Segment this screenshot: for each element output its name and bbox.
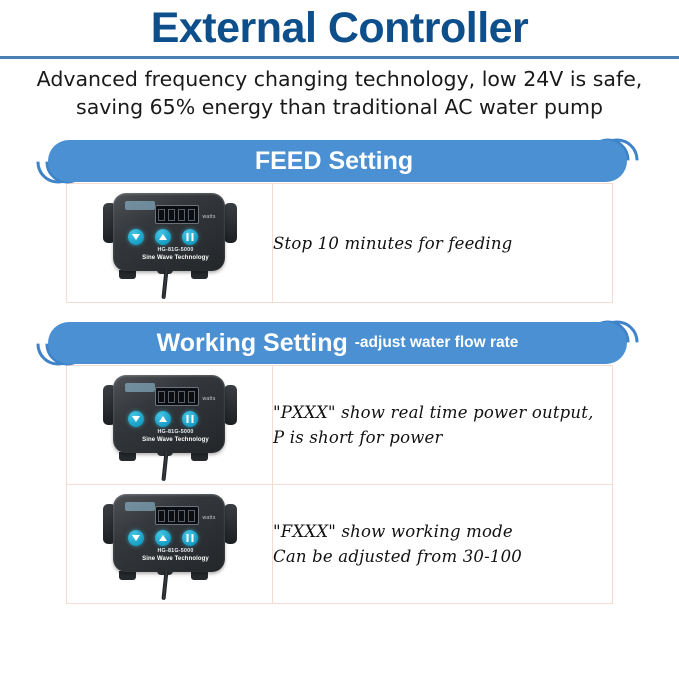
- digit-segment: [168, 391, 175, 403]
- digit-segment: [158, 209, 165, 221]
- digit-segment: [188, 510, 195, 522]
- device-button-row: [128, 530, 198, 546]
- device-model-label: HG-81G-5000: [141, 548, 211, 554]
- device-foot-left: [119, 571, 136, 580]
- device-mount-bracket-right: [224, 504, 237, 544]
- digit-segment: [178, 391, 185, 403]
- working-device-cell-2: watts HG-81G-5000 Sine Wave Technology: [67, 485, 273, 604]
- working-description-cell-2: "FXXX" show working mode Can be adjusted…: [273, 485, 613, 604]
- digit-segment: [158, 391, 165, 403]
- down-button[interactable]: [128, 411, 144, 427]
- triangle-up-icon: [159, 234, 167, 240]
- pause-icon: [186, 415, 193, 423]
- controller-device-image: watts HG-81G-5000 Sine Wave Technology: [95, 187, 245, 299]
- device-tagline-label: Sine Wave Technology: [135, 255, 217, 261]
- device-model-label: HG-81G-5000: [141, 247, 211, 253]
- device-led-display: [155, 387, 199, 406]
- description-line: Can be adjusted from 30-100: [273, 544, 612, 569]
- table-row: watts HG-81G-5000 Sine Wave Technology "…: [67, 485, 613, 604]
- pause-button[interactable]: [182, 229, 198, 245]
- triangle-up-icon: [159, 416, 167, 422]
- device-model-label: HG-81G-5000: [141, 429, 211, 435]
- digit-segment: [178, 209, 185, 221]
- feed-table: watts HG-81G-5000 Sine Wave Technology S…: [66, 183, 613, 303]
- up-button[interactable]: [155, 229, 171, 245]
- device-brand-logo-icon: [125, 502, 155, 511]
- section-working: Working Setting -adjust water flow rate: [0, 321, 679, 604]
- description-line: P is short for power: [273, 425, 612, 450]
- description-line: "FXXX" show working mode: [273, 519, 612, 544]
- digit-segment: [188, 391, 195, 403]
- working-device-cell-1: watts HG-81G-5000 Sine Wave Technology: [67, 366, 273, 485]
- device-foot-right: [191, 452, 208, 461]
- device-brand-logo-icon: [125, 201, 155, 210]
- triangle-down-icon: [132, 234, 140, 240]
- pause-button[interactable]: [182, 411, 198, 427]
- device-tagline-label: Sine Wave Technology: [135, 437, 217, 443]
- triangle-down-icon: [132, 535, 140, 541]
- feed-banner-title: FEED Setting: [255, 140, 413, 182]
- device-foot-left: [119, 452, 136, 461]
- controller-device-image: watts HG-81G-5000 Sine Wave Technology: [95, 488, 245, 600]
- up-button[interactable]: [155, 411, 171, 427]
- down-button[interactable]: [128, 530, 144, 546]
- product-infographic-page: { "header": { "title": "External Control…: [0, 2, 679, 696]
- pause-icon: [186, 233, 193, 241]
- working-banner-title: Working Setting: [157, 322, 348, 364]
- section-feed: FEED Setting: [0, 139, 679, 303]
- working-table: watts HG-81G-5000 Sine Wave Technology "…: [66, 365, 613, 604]
- triangle-up-icon: [159, 535, 167, 541]
- table-row: watts HG-81G-5000 Sine Wave Technology "…: [67, 366, 613, 485]
- pause-icon: [186, 534, 193, 542]
- digit-segment: [188, 209, 195, 221]
- page-subtitle: Advanced frequency changing technology, …: [0, 59, 679, 121]
- description-line: "PXXX" show real time power output,: [273, 400, 612, 425]
- device-foot-right: [191, 571, 208, 580]
- feed-banner: FEED Setting: [36, 139, 639, 183]
- description-line: Stop 10 minutes for feeding: [273, 231, 612, 256]
- mode-description: "FXXX" show working mode Can be adjusted…: [273, 519, 612, 569]
- working-banner-pill: Working Setting -adjust water flow rate: [48, 322, 627, 364]
- up-button[interactable]: [155, 530, 171, 546]
- page-title: External Controller: [0, 2, 679, 54]
- feed-description: Stop 10 minutes for feeding: [273, 231, 612, 256]
- triangle-down-icon: [132, 416, 140, 422]
- digit-segment: [168, 209, 175, 221]
- device-button-row: [128, 229, 198, 245]
- working-banner: Working Setting -adjust water flow rate: [36, 321, 639, 365]
- device-watts-label: watts: [203, 214, 216, 220]
- digit-segment: [158, 510, 165, 522]
- device-led-display: [155, 205, 199, 224]
- feed-description-cell: Stop 10 minutes for feeding: [273, 184, 613, 303]
- device-watts-label: watts: [203, 396, 216, 402]
- page-header: External Controller Advanced frequency c…: [0, 2, 679, 121]
- controller-device-image: watts HG-81G-5000 Sine Wave Technology: [95, 369, 245, 481]
- digit-segment: [168, 510, 175, 522]
- power-description: "PXXX" show real time power output, P is…: [273, 400, 612, 450]
- device-led-display: [155, 506, 199, 525]
- device-button-row: [128, 411, 198, 427]
- down-button[interactable]: [128, 229, 144, 245]
- device-tagline-label: Sine Wave Technology: [135, 556, 217, 562]
- working-banner-subtitle: -adjust water flow rate: [355, 322, 519, 364]
- device-foot-left: [119, 270, 136, 279]
- pause-button[interactable]: [182, 530, 198, 546]
- feed-banner-pill: FEED Setting: [48, 140, 627, 182]
- device-mount-bracket-right: [224, 203, 237, 243]
- device-brand-logo-icon: [125, 383, 155, 392]
- feed-device-cell: watts HG-81G-5000 Sine Wave Technology: [67, 184, 273, 303]
- table-row: watts HG-81G-5000 Sine Wave Technology S…: [67, 184, 613, 303]
- digit-segment: [178, 510, 185, 522]
- working-description-cell-1: "PXXX" show real time power output, P is…: [273, 366, 613, 485]
- device-mount-bracket-right: [224, 385, 237, 425]
- device-foot-right: [191, 270, 208, 279]
- device-watts-label: watts: [203, 515, 216, 521]
